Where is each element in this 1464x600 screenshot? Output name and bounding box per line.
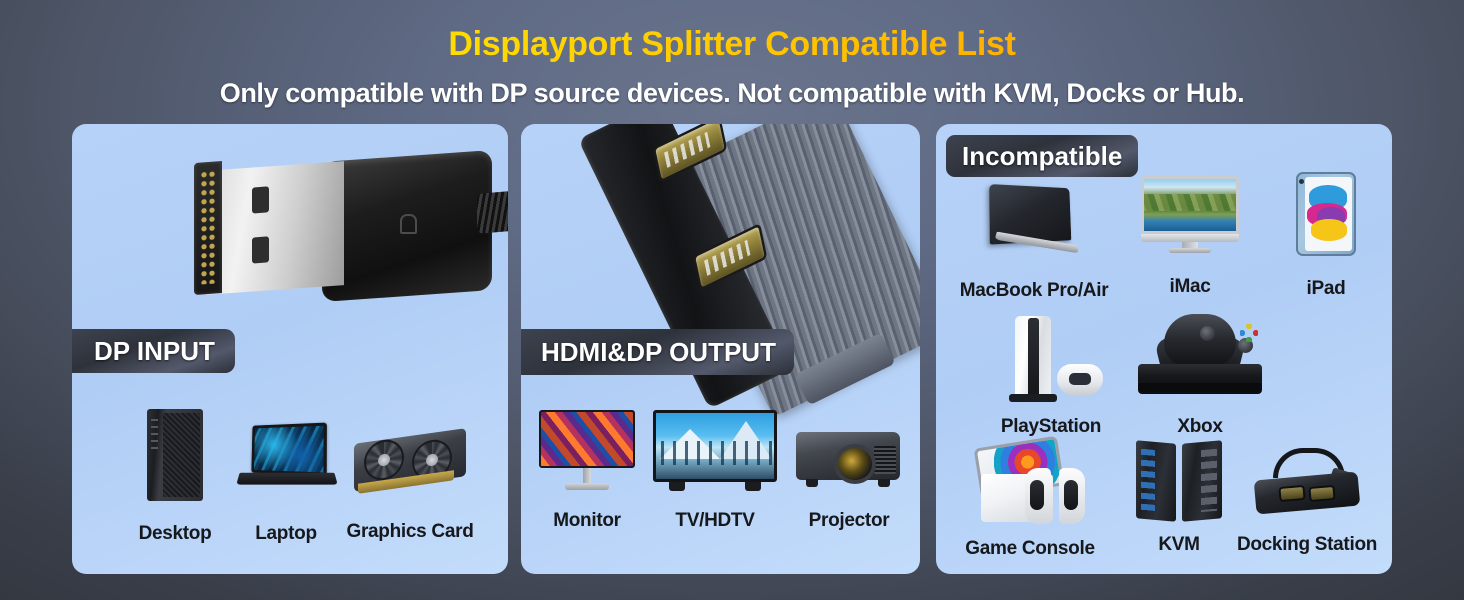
device-tile-monitor: Monitor bbox=[529, 410, 645, 532]
device-label-game-console: Game Console bbox=[950, 538, 1110, 560]
device-label-xbox: Xbox bbox=[1132, 416, 1268, 438]
device-tile-playstation: PlayStation bbox=[988, 316, 1114, 438]
playstation-icon bbox=[995, 316, 1107, 406]
connector-metal-tongue bbox=[204, 161, 344, 295]
page-subtitle: Only compatible with DP source devices. … bbox=[0, 78, 1464, 109]
device-tile-macbook: MacBook Pro/Air bbox=[946, 186, 1122, 302]
device-label-imac: iMac bbox=[1132, 276, 1248, 298]
device-label-projector: Projector bbox=[787, 510, 911, 532]
device-tile-desktop: Desktop bbox=[114, 409, 236, 545]
infographic-root: Displayport Splitter Compatible List Onl… bbox=[0, 0, 1464, 600]
device-label-tv: TV/HDTV bbox=[647, 510, 783, 532]
badge-incompatible: Incompatible bbox=[946, 135, 1138, 177]
badge-incompatible-label: Incompatible bbox=[962, 141, 1122, 172]
device-label-kvm: KVM bbox=[1130, 534, 1228, 556]
displayport-logo-icon bbox=[400, 214, 417, 234]
badge-dp-input-label: DP INPUT bbox=[94, 336, 215, 367]
ipad-icon bbox=[1296, 172, 1356, 256]
device-tile-projector: Projector bbox=[787, 424, 911, 532]
device-tile-game-console: Game Console bbox=[950, 442, 1110, 560]
displayport-connector-icon bbox=[182, 142, 508, 322]
badge-hdmi-dp-output: HDMI&DP OUTPUT bbox=[521, 329, 794, 375]
connector-pins bbox=[200, 169, 216, 284]
panel-dp-input: DP INPUT Desktop Laptop Graphics Card bbox=[72, 124, 508, 574]
device-tile-graphics-card: Graphics Card bbox=[330, 430, 490, 543]
imac-icon bbox=[1141, 176, 1239, 254]
device-tile-ipad: iPad bbox=[1274, 172, 1378, 300]
xbox-icon bbox=[1138, 314, 1262, 406]
device-label-ipad: iPad bbox=[1274, 278, 1378, 300]
device-label-docking-station: Docking Station bbox=[1228, 534, 1386, 556]
device-label-monitor: Monitor bbox=[529, 510, 645, 532]
device-tile-imac: iMac bbox=[1132, 176, 1248, 298]
nintendo-switch-icon bbox=[967, 442, 1093, 528]
device-tile-kvm: KVM bbox=[1130, 442, 1228, 556]
device-tile-tv: TV/HDTV bbox=[647, 410, 783, 532]
cable-strain-relief bbox=[477, 190, 508, 234]
badge-hdmi-dp-output-label: HDMI&DP OUTPUT bbox=[541, 337, 776, 368]
device-tile-xbox: Xbox bbox=[1132, 314, 1268, 438]
graphics-card-icon bbox=[354, 430, 466, 496]
device-label-graphics-card: Graphics Card bbox=[330, 521, 490, 543]
projector-icon bbox=[796, 424, 902, 494]
kvm-switch-icon bbox=[1136, 442, 1222, 522]
device-label-desktop: Desktop bbox=[114, 523, 236, 545]
macbook-icon bbox=[982, 186, 1086, 258]
monitor-icon bbox=[539, 410, 635, 494]
device-label-playstation: PlayStation bbox=[988, 416, 1114, 438]
panel-incompatible: Incompatible MacBook Pro/Air iMac bbox=[936, 124, 1392, 574]
device-label-macbook: MacBook Pro/Air bbox=[946, 280, 1122, 302]
television-icon bbox=[653, 410, 777, 496]
desktop-tower-icon bbox=[114, 409, 236, 501]
laptop-icon bbox=[234, 424, 338, 494]
docking-station-icon bbox=[1251, 446, 1363, 522]
panel-hdmi-dp-output: HDMI&DP OUTPUT Monitor TV/HDTV bbox=[521, 124, 920, 574]
page-title: Displayport Splitter Compatible List bbox=[0, 25, 1464, 64]
connector-pin-block bbox=[194, 161, 222, 295]
device-tile-docking-station: Docking Station bbox=[1228, 446, 1386, 556]
badge-dp-input: DP INPUT bbox=[72, 329, 235, 373]
